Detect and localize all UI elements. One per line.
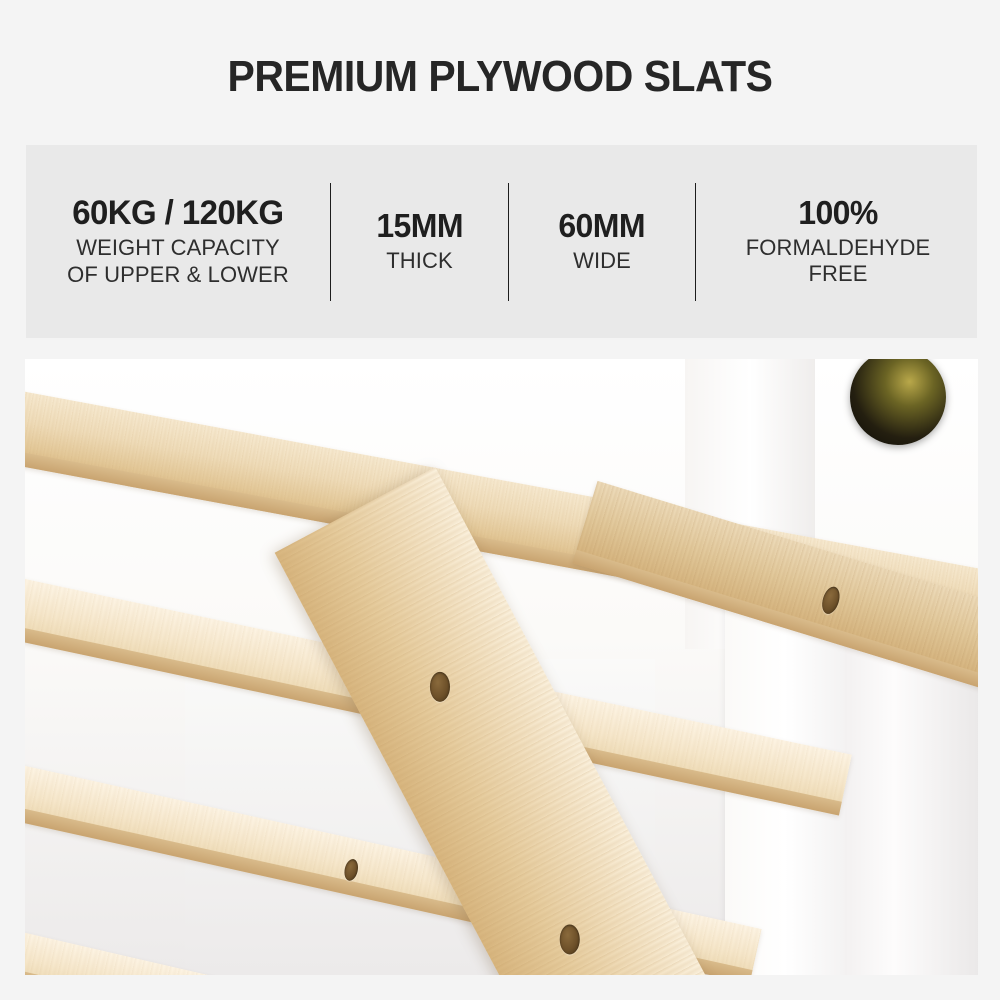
board-drill-hole-bottom: [560, 924, 580, 954]
rail-drill-hole: [819, 585, 842, 616]
spec-item-weight-capacity: 60KG / 120KG WEIGHT CAPACITY OF UPPER & …: [26, 145, 330, 338]
spec-label-line1: FORMALDEHYDE: [746, 235, 931, 262]
spec-label-line1: THICK: [386, 248, 453, 275]
product-feature-banner: PREMIUM PLYWOOD SLATS 60KG / 120KG WEIGH…: [0, 0, 1000, 1000]
board-drill-hole-top: [430, 672, 450, 702]
slat-drill-hole: [342, 858, 359, 882]
spec-label-line1: WEIGHT CAPACITY: [76, 235, 280, 262]
spec-value: 15MM: [376, 208, 463, 245]
spec-label-line2: OF UPPER & LOWER: [67, 262, 289, 289]
spec-panel: 60KG / 120KG WEIGHT CAPACITY OF UPPER & …: [26, 145, 977, 338]
spec-item-width: 60MM WIDE: [509, 145, 695, 338]
page-title: PREMIUM PLYWOOD SLATS: [35, 52, 965, 102]
spec-label-line2: FREE: [808, 261, 867, 288]
spec-value: 60KG / 120KG: [72, 194, 283, 232]
spec-value: 60MM: [559, 208, 646, 245]
spec-value: 100%: [798, 195, 878, 232]
product-photo: AUSTRALIAN STANDARD MATTRESS COMPATIBLE: [25, 359, 978, 975]
spec-item-formaldehyde-free: 100% FORMALDEHYDE FREE: [696, 145, 980, 338]
spec-item-thickness: 15MM THICK: [331, 145, 508, 338]
spec-label-line1: WIDE: [573, 248, 631, 275]
